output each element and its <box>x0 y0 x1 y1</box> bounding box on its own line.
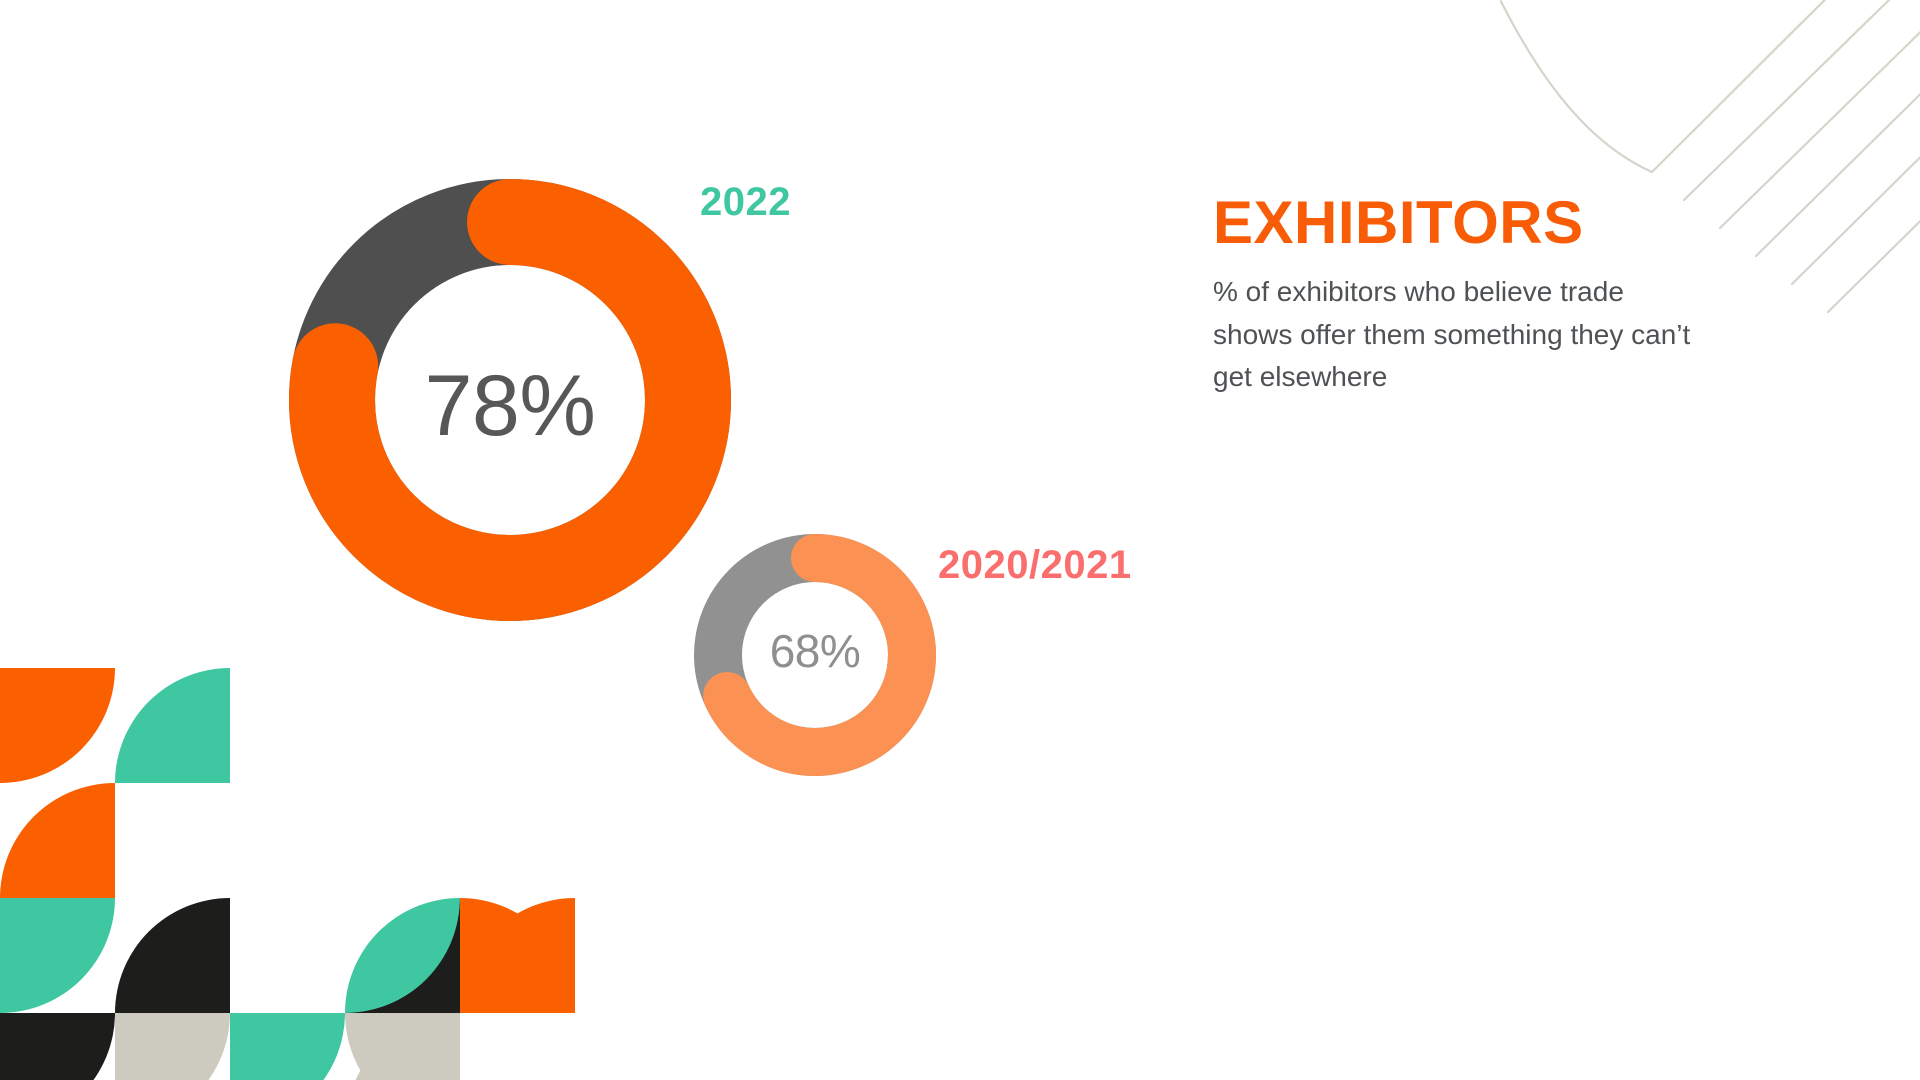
label-year-2022: 2022 <box>700 180 791 225</box>
quarter-circle-tile-pattern <box>0 668 610 1080</box>
donut-2020-2021-value: 68% <box>690 624 940 678</box>
info-description: % of exhibitors who believe trade shows … <box>1213 271 1703 399</box>
donut-chart-2022: 78% <box>285 175 735 625</box>
info-block: EXHIBITORS % of exhibitors who believe t… <box>1213 193 1733 399</box>
page-title: EXHIBITORS <box>1213 193 1733 253</box>
donut-chart-2020-2021: 68% <box>690 530 940 780</box>
slide-canvas: 78% 68% 2022 2020/2021 EXHIBITORS % of e… <box>0 0 1920 1080</box>
donut-2022-value: 78% <box>285 357 735 456</box>
label-year-2020-2021: 2020/2021 <box>938 543 1132 588</box>
